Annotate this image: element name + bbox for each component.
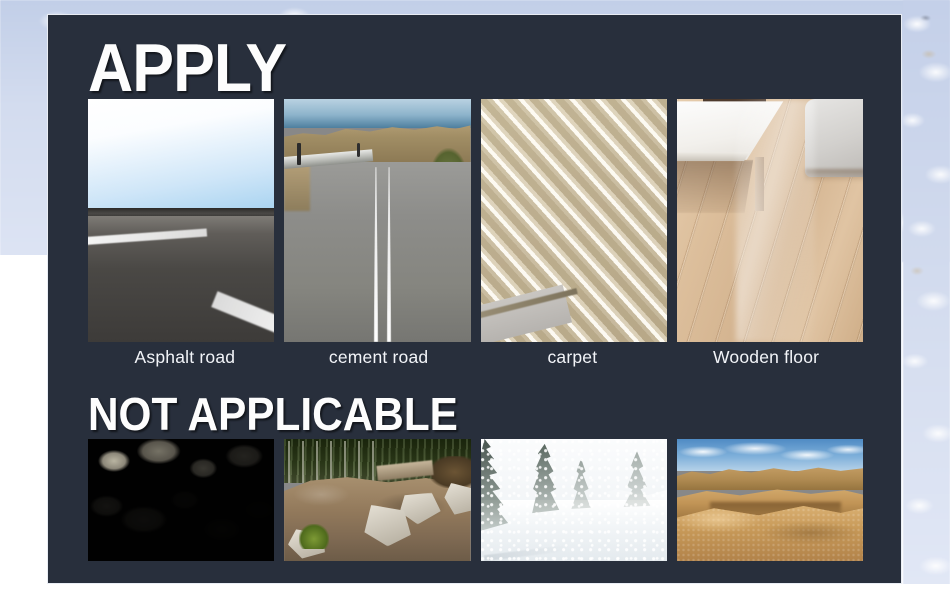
tree-root <box>430 456 471 488</box>
tree-trunks <box>288 441 374 482</box>
tile-asphalt-road[interactable] <box>88 99 274 342</box>
white-area-bottom <box>0 584 950 602</box>
roadside-pole <box>297 143 301 165</box>
apply-image-row <box>88 99 863 342</box>
snow-speckle <box>481 439 667 561</box>
tile-snow-forest[interactable] <box>481 439 667 561</box>
distant-figure <box>357 143 360 158</box>
white-area-left <box>0 255 47 602</box>
rubble-texture <box>88 439 274 561</box>
not-applicable-image-row <box>88 439 863 561</box>
sky-gradient <box>88 99 274 211</box>
apply-heading: APPLY <box>88 34 286 102</box>
sea-and-sky <box>284 99 470 128</box>
tile-dirt-slope[interactable] <box>284 439 470 561</box>
infographic-panel: APPLY <box>47 14 902 584</box>
tile-sand-dunes[interactable] <box>677 439 863 561</box>
tile-broken-rubble[interactable] <box>88 439 274 561</box>
floor-reflection <box>736 99 814 342</box>
marble-texture-right <box>903 0 950 602</box>
tile-wooden-floor[interactable] <box>677 99 863 342</box>
caption-carpet: carpet <box>476 347 670 368</box>
clouds <box>677 441 863 468</box>
road-shoulder <box>284 162 310 211</box>
caption-asphalt-road: Asphalt road <box>88 347 282 368</box>
caption-cement-road: cement road <box>282 347 476 368</box>
not-applicable-heading: NOT APPLICABLE <box>88 391 458 437</box>
green-shrub <box>299 524 329 548</box>
apply-caption-row: Asphalt road cement road carpet Wooden f… <box>88 347 863 368</box>
tile-cement-road[interactable] <box>284 99 470 342</box>
tile-carpet[interactable] <box>481 99 667 342</box>
caption-wooden-floor: Wooden floor <box>669 347 863 368</box>
